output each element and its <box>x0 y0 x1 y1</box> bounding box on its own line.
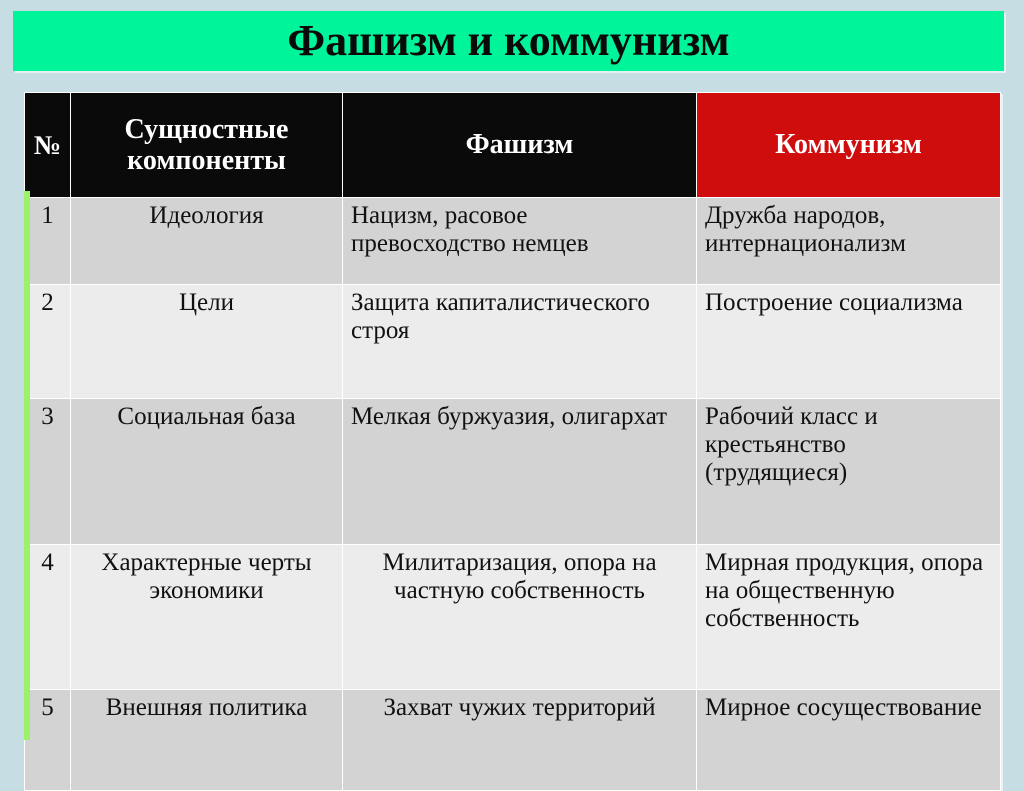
row-communism: Мирное сосуществование <box>697 690 1001 791</box>
row-component: Характерные черты экономики <box>71 545 343 690</box>
table-row: 3 Социальная база Мелкая буржуазия, олиг… <box>25 399 1001 545</box>
row-fascism: Нацизм, расовое превосходство немцев <box>343 198 697 285</box>
row-component: Социальная база <box>71 399 343 545</box>
row-number: 2 <box>25 285 71 399</box>
column-header-communism: Коммунизм <box>697 93 1001 198</box>
row-number: 1 <box>25 198 71 285</box>
row-fascism: Защита капиталистического строя <box>343 285 697 399</box>
row-fascism: Милитаризация, опора на частную собствен… <box>343 545 697 690</box>
row-number: 3 <box>25 399 71 545</box>
row-number: 4 <box>25 545 71 690</box>
comparison-table-container: № Сущностные компоненты Фашизм Коммунизм… <box>24 92 1000 740</box>
title-banner: Фашизм и коммунизм <box>13 11 1004 71</box>
green-left-accent-bar <box>24 191 30 740</box>
table-row: 5 Внешняя политика Захват чужих территор… <box>25 690 1001 791</box>
column-header-components: Сущностные компоненты <box>71 93 343 198</box>
row-number: 5 <box>25 690 71 791</box>
table-header-row: № Сущностные компоненты Фашизм Коммунизм <box>25 93 1001 198</box>
column-header-number: № <box>25 93 71 198</box>
table-row: 2 Цели Защита капиталистического строя П… <box>25 285 1001 399</box>
page-title: Фашизм и коммунизм <box>287 19 729 63</box>
row-communism: Построение социализма <box>697 285 1001 399</box>
row-communism: Рабочий класс и крестьянство (трудящиеся… <box>697 399 1001 545</box>
row-communism: Мирная продукция, опора на общественную … <box>697 545 1001 690</box>
comparison-table: № Сущностные компоненты Фашизм Коммунизм… <box>24 92 1001 791</box>
table-row: 4 Характерные черты экономики Милитариза… <box>25 545 1001 690</box>
column-header-fascism: Фашизм <box>343 93 697 198</box>
row-communism: Дружба народов, интернационализм <box>697 198 1001 285</box>
row-fascism: Захват чужих территорий <box>343 690 697 791</box>
row-component: Внешняя политика <box>71 690 343 791</box>
row-component: Цели <box>71 285 343 399</box>
row-fascism: Мелкая буржуазия, олигархат <box>343 399 697 545</box>
row-component: Идеология <box>71 198 343 285</box>
table-row: 1 Идеология Нацизм, расовое превосходств… <box>25 198 1001 285</box>
